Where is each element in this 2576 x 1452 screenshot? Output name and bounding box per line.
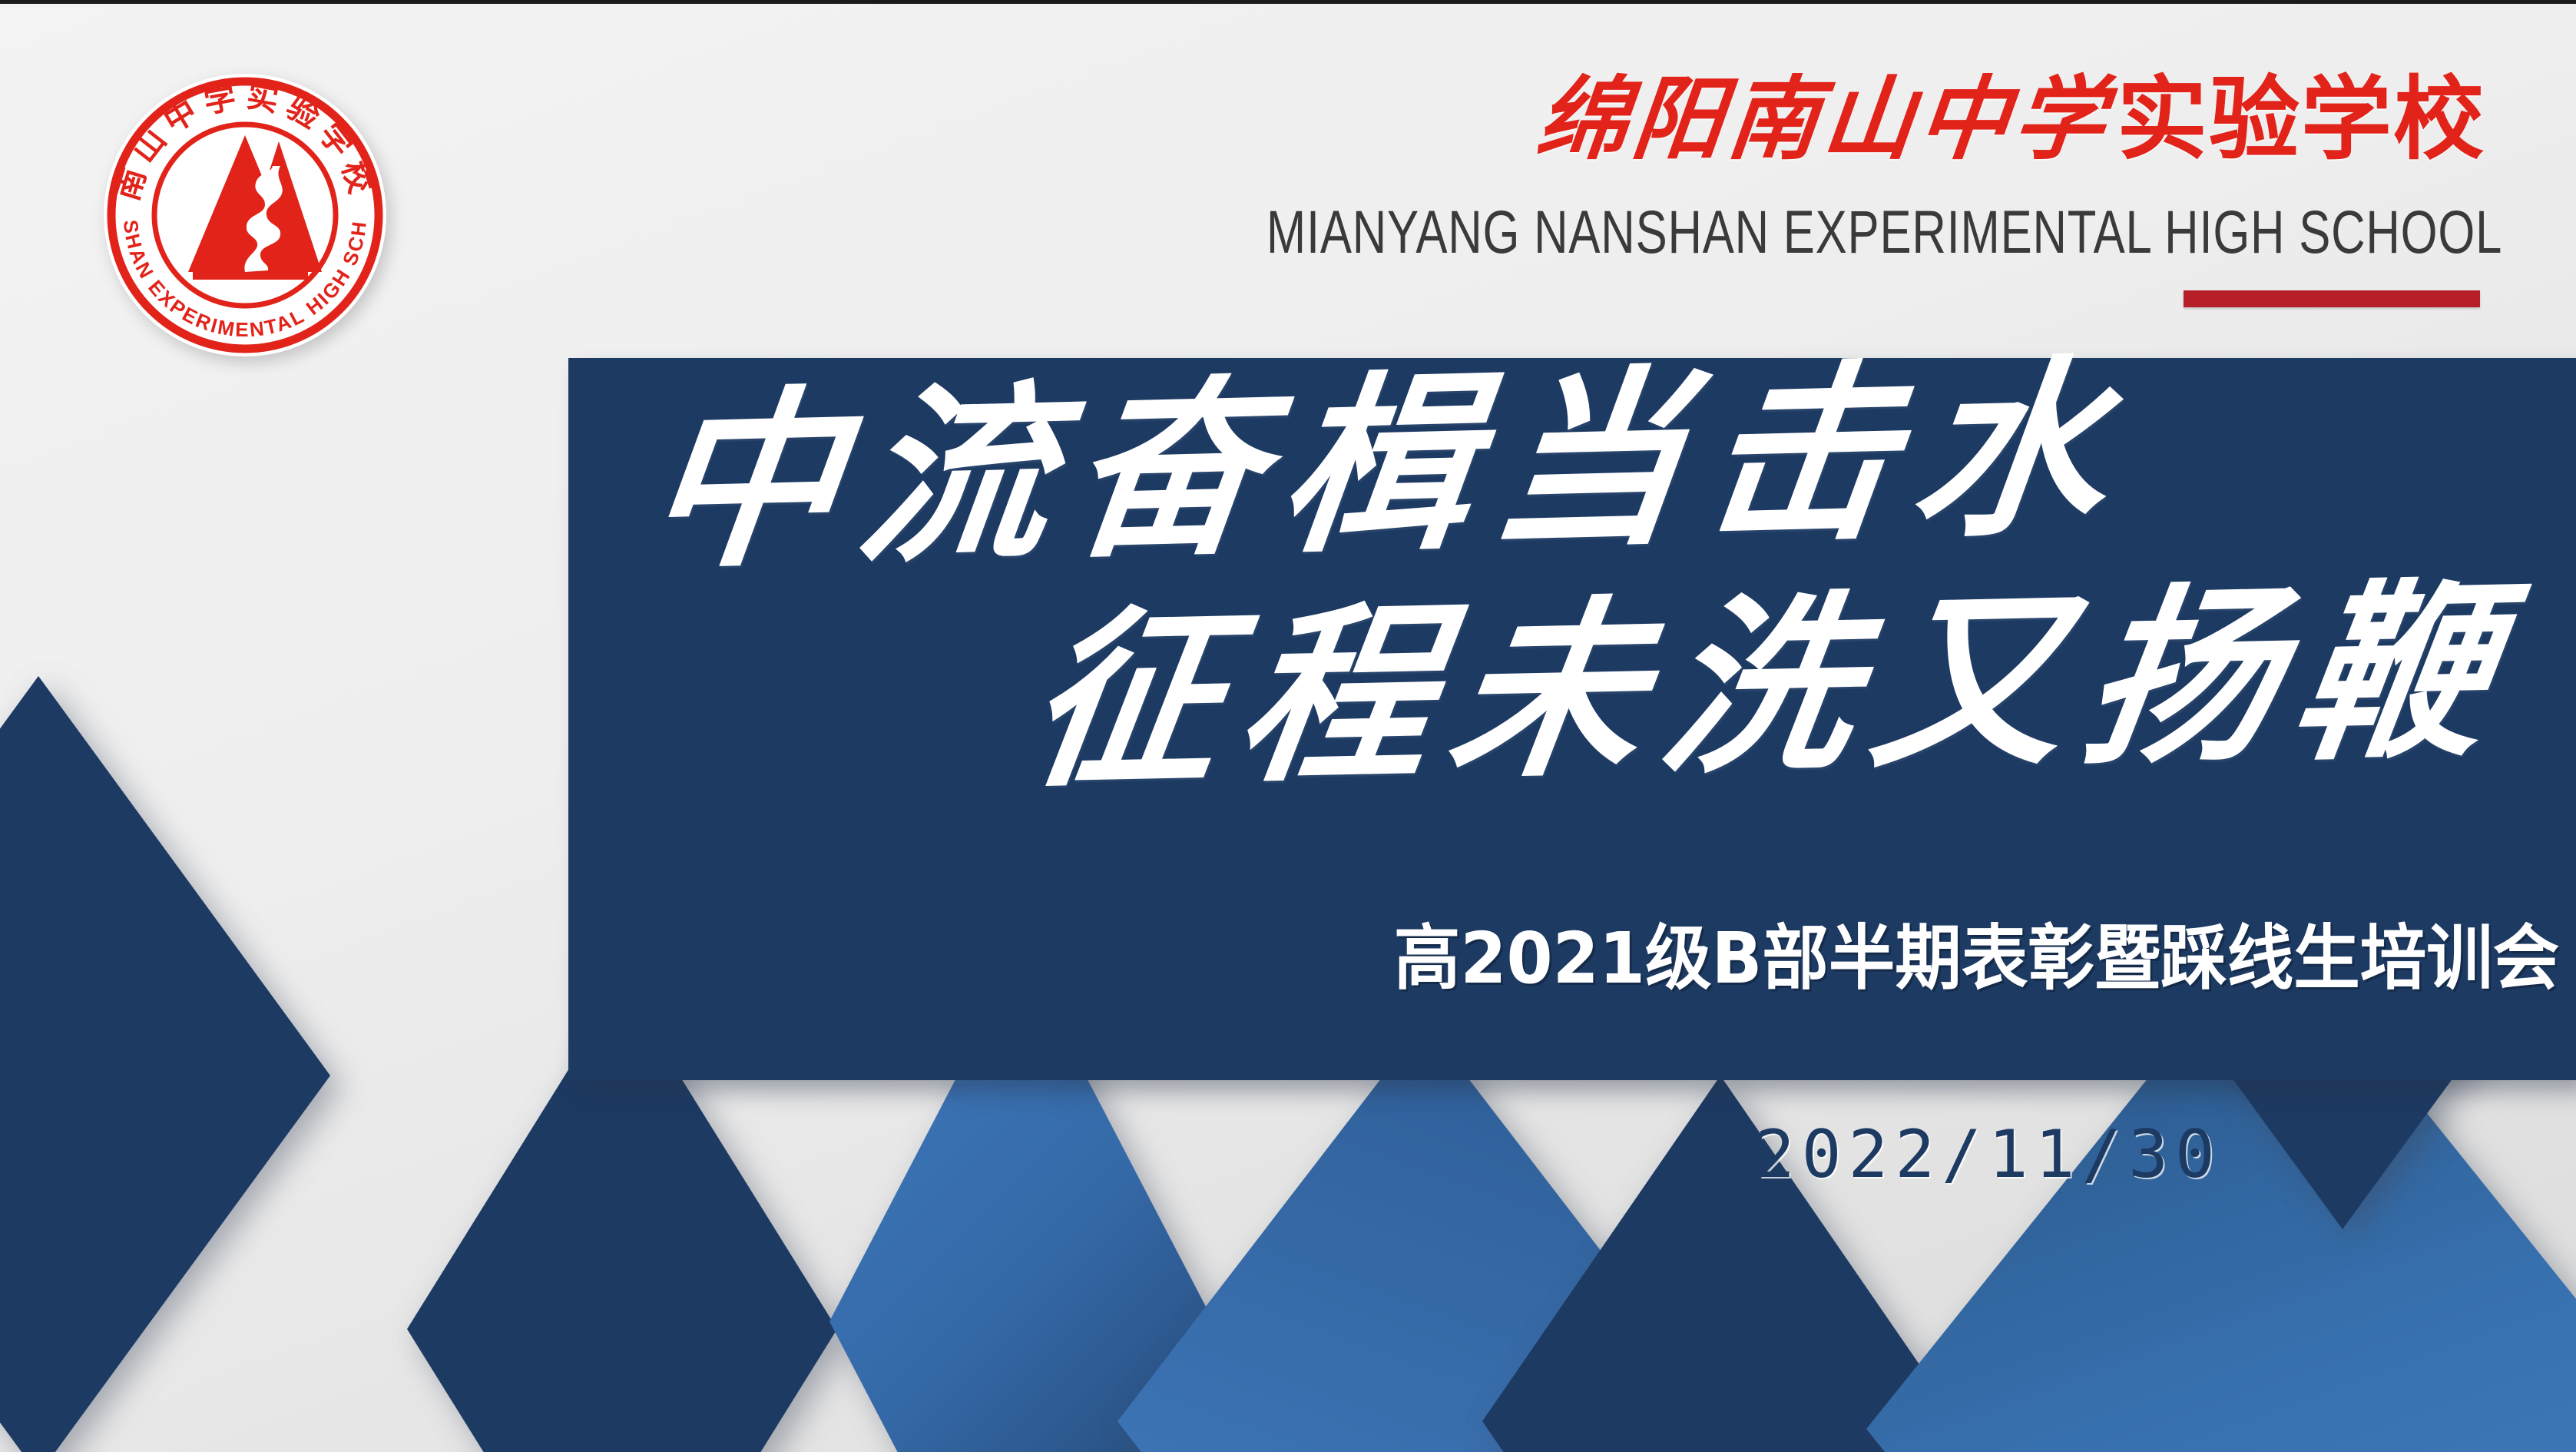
event-date: 2022/11/30 bbox=[1755, 1122, 2222, 1188]
diamond-navy-left bbox=[0, 676, 330, 1452]
calligraphy-line-2: 征程未洗又扬鞭 bbox=[1017, 572, 2522, 803]
school-name-english: MIANYANG NANSHAN EXPERIMENTAL HIGH SCHOO… bbox=[1266, 201, 2502, 262]
presentation-slide: 南山中学实验学校 NANSHAN EXPERIMENTAL HIGH SCHOO… bbox=[0, 0, 2576, 1452]
top-edge-line bbox=[0, 0, 2576, 4]
calligraphy-line-1: 中流奋楫当击水 bbox=[637, 348, 2138, 584]
school-name-chinese: 绵阳南山中学实验学校 bbox=[1538, 74, 2485, 164]
school-logo: 南山中学实验学校 NANSHAN EXPERIMENTAL HIGH SCHOO… bbox=[102, 37, 388, 380]
school-name-brush: 绵阳南山中学 bbox=[1533, 74, 2114, 164]
event-subtitle: 高2021级B部半期表彰暨踩线生培训会 bbox=[1394, 923, 2559, 994]
school-name-bold: 实验学校 bbox=[2117, 66, 2485, 172]
red-accent-bar bbox=[2184, 290, 2480, 307]
title-panel: 中流奋楫当击水 征程未洗又扬鞭 高2021级B部半期表彰暨踩线生培训会 bbox=[568, 358, 2576, 1080]
